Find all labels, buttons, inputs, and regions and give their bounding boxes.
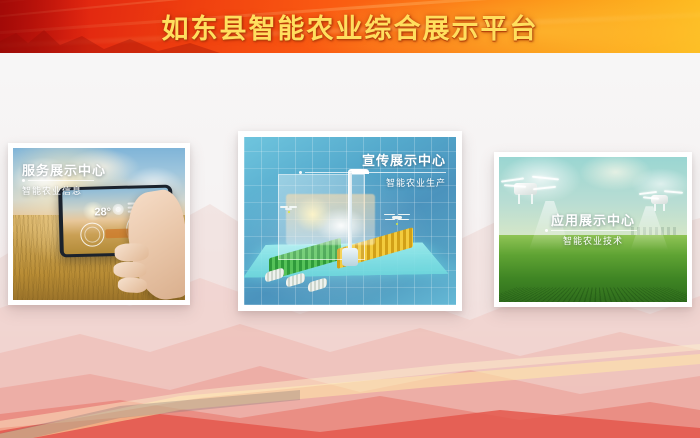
header-banner: 如东县智能农业综合展示平台 [0,0,700,53]
card-title: 宣传展示中心 [362,150,446,169]
drone-leg [518,194,520,204]
drone-rotor [384,214,395,216]
card-title: 应用展示中心 [499,210,687,229]
drone-blade [501,177,524,182]
drone-left [501,172,559,206]
drone-rotor [398,214,409,216]
weather-cloud-icon [113,204,124,215]
finger [113,261,146,278]
card-service-display-center[interactable]: 28° 服务展示中心 [8,143,190,305]
crop-rows [499,288,687,302]
finger [118,276,148,293]
poster-stage: 如东县智能农业综合展示平台 28° [0,0,700,438]
drone-leg [531,194,533,204]
card-subtitle: 智能农业技术 [499,234,687,247]
card-subtitle: 智能农业生产 [386,176,446,189]
title-rule [551,230,637,231]
page-title: 如东县智能农业综合展示平台 [0,0,700,53]
drone-rotor [289,206,297,208]
lamp-pole [348,171,352,252]
title-rule [28,180,94,181]
card-title: 服务展示中心 [22,160,106,179]
drone-blade [664,190,683,194]
finger [114,243,148,261]
drone-right [639,186,683,212]
title-dot [299,171,302,174]
title-rule [305,172,446,173]
drone-blade [533,186,556,190]
water-tank [342,248,359,266]
drone-small-left [280,204,297,213]
drone-rotor [280,206,288,208]
drone-rotor [385,219,395,221]
card-publicity-display-center[interactable]: 宣传展示中心 智能农业生产 [238,131,462,311]
card-publicity-image: 宣传展示中心 智能农业生产 [244,137,456,305]
drone-blade [532,176,559,181]
card-application-image: 应用展示中心 智能农业技术 [499,157,687,302]
drone-rotor [398,219,408,221]
drone-body [285,208,292,211]
sky-projection [286,194,375,244]
card-subtitle: 智能农业信息 [22,184,82,197]
title-dot [22,179,25,182]
hud-ring-left-icon [80,223,105,248]
drone-led [288,211,290,213]
card-application-display-center[interactable]: 应用展示中心 智能农业技术 [494,152,692,307]
title-dot [545,229,548,232]
temperature-readout: 28° [95,206,112,218]
card-service-image: 28° 服务展示中心 [13,148,185,300]
drone-large-right [384,211,410,224]
